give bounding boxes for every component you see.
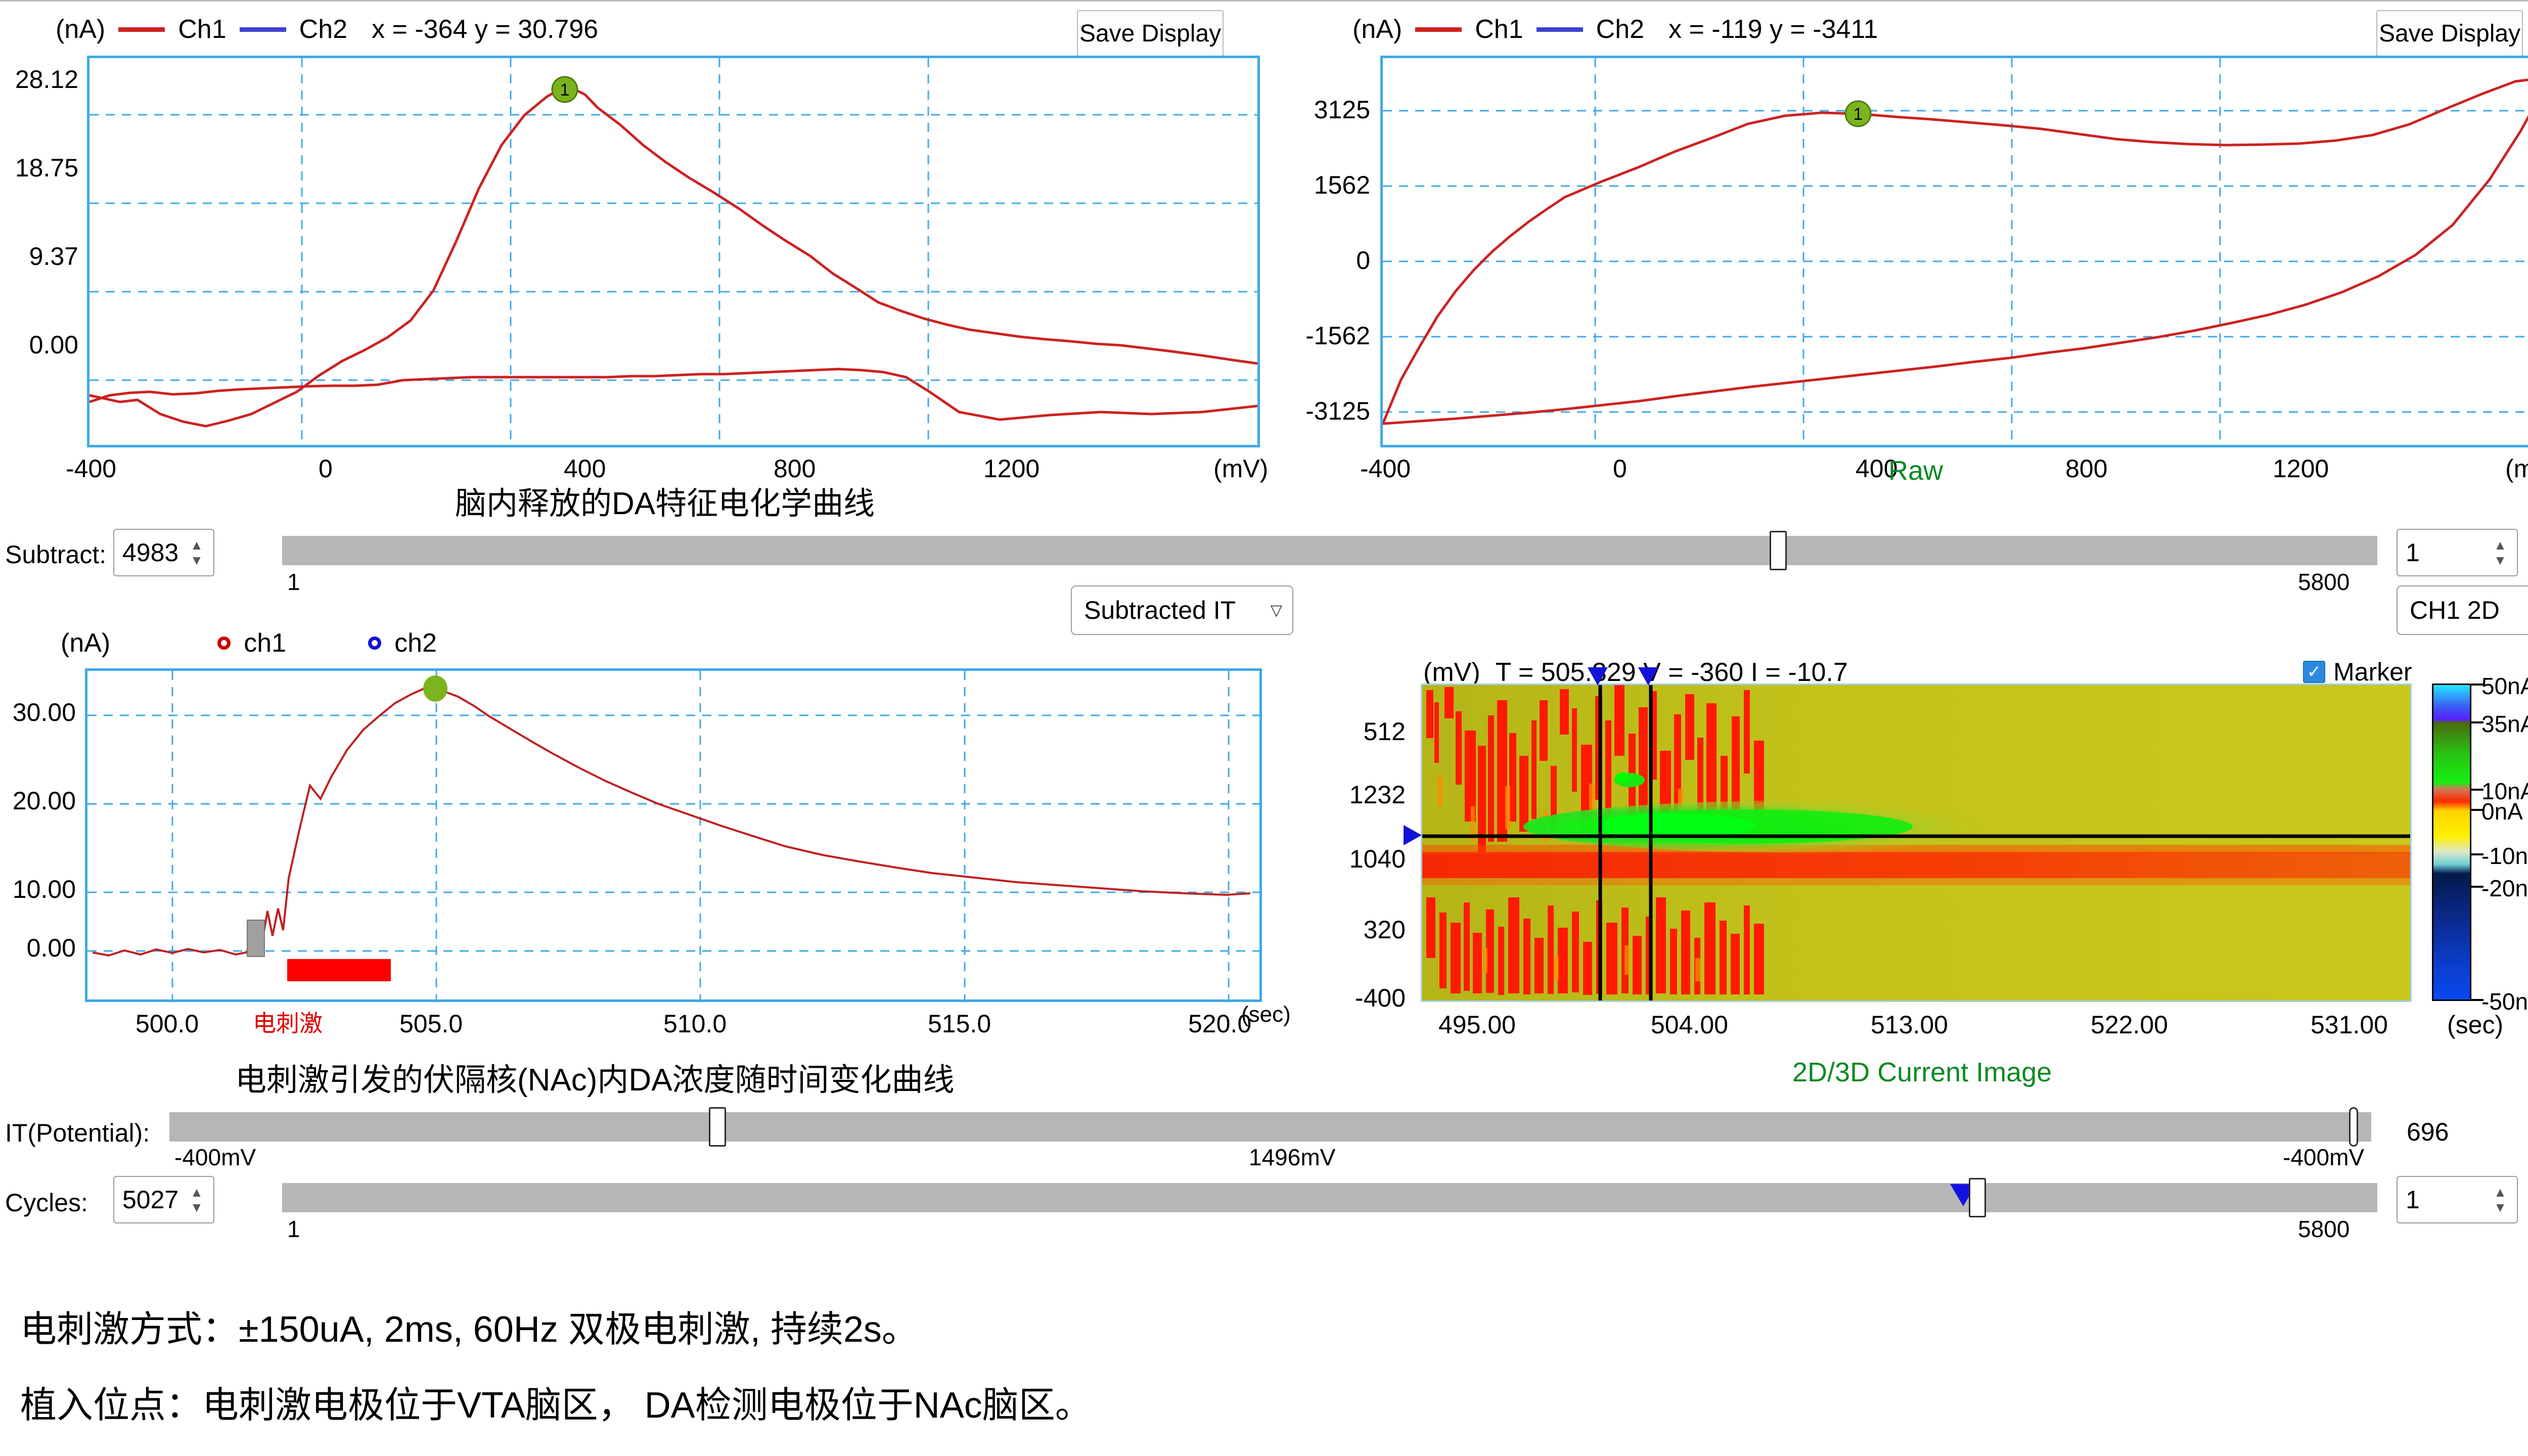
cycles-slider[interactable]	[282, 1183, 2377, 1212]
cbar-label--20nA: -20nA	[2481, 875, 2528, 902]
top-left-legend-ch2: Ch2	[299, 14, 347, 44]
bottom-left-unit-label: (nA)	[61, 628, 110, 658]
spin-down-icon-4[interactable]: ▼	[2494, 1202, 2507, 1213]
top-right-ytick-3125: 3125	[1279, 95, 1370, 124]
subtract-spinner[interactable]: 4983 ▲ ▼	[113, 529, 214, 576]
top-right-xtick-0: 0	[1613, 454, 1627, 483]
top-left-readout: x = -364 y = 30.796	[372, 14, 598, 44]
cycles-label: Cycles:	[5, 1188, 88, 1217]
cbar-label--10nA: -10nA	[2481, 842, 2528, 870]
bottom-left-xtick-510: 510.0	[663, 1009, 727, 1038]
bottom-left-plot-svg	[87, 671, 1259, 999]
heatmap-svg	[1422, 685, 2410, 1000]
stimulation-label: 电刺激	[253, 1005, 323, 1038]
top-right-legend-ch2: Ch2	[1596, 14, 1644, 44]
subtract-value[interactable]: 4983	[114, 538, 185, 567]
top-left-xtick-0: 0	[319, 454, 333, 483]
display-mode-value: Subtracted IT	[1084, 596, 1236, 625]
channel-mode-dropdown[interactable]: CH1 2D ▽	[2397, 585, 2528, 635]
bottom-left-plot[interactable]	[85, 668, 1262, 1002]
top-left-ytick-9: 9.37	[0, 242, 78, 271]
top-right-xtick--400: -400	[1360, 454, 1411, 483]
spin-down-icon[interactable]: ▼	[190, 555, 203, 566]
top-right-plot[interactable]: 1	[1380, 56, 2528, 447]
top-right-ytick-1562: 1562	[1279, 170, 1370, 200]
chevron-down-icon[interactable]: ▽	[1271, 602, 1282, 619]
top-left-ytick-0: 0.00	[0, 330, 78, 359]
cycles-spinner-arrows[interactable]: ▲ ▼	[185, 1187, 213, 1213]
heatmap-ytick-1232: 1232	[1320, 780, 1406, 809]
heatmap-ytick-1040: 1040	[1320, 844, 1406, 874]
subtract-slider-thumb[interactable]	[1770, 531, 1787, 570]
top-right-ytick-0: 0	[1279, 246, 1370, 275]
heatmap-xtick-495: 495.00	[1438, 1010, 1516, 1039]
ch2-line-swatch-icon-2	[1537, 27, 1583, 32]
top-right-readout: x = -119 y = -3411	[1668, 14, 1878, 44]
ch1-ring-swatch-icon	[217, 636, 231, 650]
cycles-value[interactable]: 5027	[114, 1185, 185, 1214]
subtract-end-spinner-arrows[interactable]: ▲ ▼	[2489, 539, 2517, 566]
top-left-caption: 脑内释放的DA特征电化学曲线	[455, 478, 875, 523]
cbar-label-50nA: 50nA	[2481, 672, 2528, 700]
bottom-left-legend-ch1: ch1	[244, 628, 286, 658]
top-left-legend-ch1: Ch1	[178, 14, 226, 44]
bottom-left-xaxis-unit: (sec)	[1241, 1002, 1291, 1027]
heatmap-readout-row: (mV) T = 505.329 V = -360 I = -10.7	[1423, 657, 1848, 688]
subtract-slider-track[interactable]	[282, 536, 2377, 565]
window-top-edge	[0, 0, 2528, 3]
top-right-xtick-1200: 1200	[2273, 454, 2329, 483]
top-left-ytick-18: 18.75	[0, 153, 78, 183]
top-right-xtick-800: 800	[2065, 454, 2107, 483]
top-left-legend: (nA) Ch1 Ch2 x = -364 y = 30.796	[56, 14, 598, 44]
save-display-button-top-right[interactable]: Save Display	[2376, 10, 2523, 57]
top-right-legend-ch1: Ch1	[1475, 14, 1523, 44]
svg-text:1: 1	[1854, 105, 1863, 124]
cycles-slider-min: 1	[287, 1215, 300, 1243]
top-left-xaxis-unit: (mV)	[1213, 454, 1268, 483]
heatmap-cursor-marker-right[interactable]	[1638, 667, 1658, 686]
it-potential-slider-thumb-end[interactable]	[2349, 1107, 2358, 1147]
heatmap-xtick-531: 531.00	[2311, 1010, 2388, 1039]
heatmap-cursor-marker-vertical[interactable]	[1404, 825, 1422, 845]
ch2-ring-swatch-icon	[368, 636, 381, 650]
svg-text:1: 1	[560, 80, 570, 100]
marker-checkbox-group[interactable]: ✓ Marker	[2303, 657, 2412, 687]
spin-up-icon-2[interactable]: ▲	[2494, 539, 2507, 551]
top-right-legend: (nA) Ch1 Ch2 x = -119 y = -3411	[1352, 14, 1878, 44]
subtract-spinner-arrows[interactable]: ▲ ▼	[185, 539, 213, 566]
cycles-end-spinner-arrows[interactable]: ▲ ▼	[2489, 1187, 2517, 1213]
bottom-left-ytick-20: 20.00	[0, 786, 76, 815]
spin-up-icon[interactable]: ▲	[190, 539, 203, 551]
it-potential-slider-track[interactable]	[169, 1112, 2371, 1142]
heatmap-image[interactable]	[1421, 684, 2412, 1002]
heatmap-unit-label: (mV)	[1423, 657, 1480, 688]
heatmap-xtick-513: 513.00	[1871, 1010, 1948, 1039]
it-potential-slider-max: -400mV	[2283, 1144, 2364, 1171]
spin-up-icon-4[interactable]: ▲	[2494, 1187, 2507, 1198]
cbar-label-35nA: 35nA	[2481, 710, 2528, 738]
cycles-slider-track[interactable]	[282, 1183, 2377, 1212]
subtract-slider[interactable]	[282, 536, 2377, 565]
subtract-end-spinner[interactable]: 1 ▲ ▼	[2397, 529, 2518, 576]
bottom-left-ytick-0: 0.00	[0, 933, 76, 963]
spin-down-icon-2[interactable]: ▼	[2494, 555, 2507, 566]
ch1-line-swatch-icon-2	[1415, 27, 1462, 32]
top-right-caption: Raw	[1888, 455, 1943, 486]
marker-checkbox-label: Marker	[2333, 657, 2412, 687]
top-right-unit-label: (nA)	[1352, 14, 1402, 44]
cycles-slider-thumb[interactable]	[1969, 1178, 1986, 1217]
note-implant-sites: 植入位点：电刺激电极位于VTA脑区， DA检测电极位于NAc脑区。	[20, 1375, 1092, 1428]
it-potential-slider-thumb[interactable]	[709, 1107, 726, 1147]
heatmap-xtick-522: 522.00	[2091, 1010, 2168, 1039]
bottom-left-legend: (nA) ch1 ch2	[61, 628, 437, 658]
cycles-spinner[interactable]: 5027 ▲ ▼	[113, 1176, 214, 1223]
bottom-left-ytick-10: 10.00	[0, 875, 76, 904]
channel-mode-value: CH1 2D	[2410, 596, 2500, 625]
top-left-ytick-28: 28.12	[0, 65, 78, 94]
cycles-end-spinner[interactable]: 1 ▲ ▼	[2397, 1176, 2518, 1223]
it-potential-slider-min: -400mV	[174, 1144, 256, 1171]
top-left-plot[interactable]: 1	[87, 56, 1260, 447]
marker-checkbox[interactable]: ✓	[2303, 661, 2325, 683]
bottom-left-xtick-500: 500.0	[136, 1009, 199, 1038]
heatmap-readout: T = 505.329 V = -360 I = -10.7	[1496, 657, 1848, 688]
display-mode-dropdown[interactable]: Subtracted IT ▽	[1071, 585, 1293, 635]
cbar-label--50nA: -50nA	[2481, 988, 2528, 1015]
top-right-ytick--1562: -1562	[1269, 321, 1370, 350]
heatmap-ytick-320: 320	[1330, 915, 1406, 944]
ch2-line-swatch-icon	[240, 27, 286, 32]
subtract-label: Subtract:	[5, 540, 106, 569]
heatmap-caption: 2D/3D Current Image	[1792, 1057, 2052, 1088]
subtract-slider-min: 1	[287, 568, 300, 596]
top-left-unit-label: (nA)	[56, 14, 105, 44]
top-right-ytick--3125: -3125	[1269, 396, 1370, 426]
top-right-plot-svg: 1	[1383, 58, 2528, 445]
ch1-line-swatch-icon	[118, 27, 165, 32]
top-left-plot-svg: 1	[89, 58, 1257, 445]
spin-down-icon-3[interactable]: ▼	[190, 1202, 203, 1213]
heatmap-xtick-504: 504.00	[1651, 1010, 1728, 1039]
subtract-slider-max: 5800	[2298, 568, 2350, 596]
heatmap-ytick--400: -400	[1320, 983, 1406, 1013]
it-potential-slider-mid: 1496mV	[1249, 1144, 1335, 1171]
spin-up-icon-3[interactable]: ▲	[190, 1187, 203, 1198]
it-potential-label: IT(Potential):	[5, 1118, 150, 1148]
bottom-left-xtick-515: 515.0	[928, 1009, 991, 1038]
bottom-left-ytick-30: 30.00	[0, 698, 76, 727]
cbar-label-0nA: 0nA	[2481, 798, 2523, 825]
cycles-slider-max: 5800	[2298, 1215, 2350, 1243]
top-left-xtick--400: -400	[66, 454, 116, 483]
it-potential-end-value: 696	[2407, 1117, 2449, 1147]
bottom-left-caption: 电刺激引发的伏隔核(NAc)内DA浓度随时间变化曲线	[235, 1054, 955, 1100]
bottom-left-legend-ch2: ch2	[394, 628, 437, 658]
note-stimulation-protocol: 电刺激方式：±150uA, 2ms, 60Hz 双极电刺激, 持续2s。	[20, 1299, 918, 1352]
heatmap-colorbar	[2432, 684, 2471, 1001]
top-left-xtick-1200: 1200	[983, 454, 1040, 483]
cycles-end-value[interactable]: 1	[2398, 1185, 2489, 1214]
bottom-left-xtick-505: 505.0	[399, 1009, 463, 1038]
heatmap-cursor-marker-left[interactable]	[1588, 667, 1608, 686]
heatmap-ytick-512: 512	[1330, 717, 1406, 746]
subtract-end-value[interactable]: 1	[2398, 538, 2489, 567]
save-display-button-top-left[interactable]: Save Display	[1077, 10, 1224, 57]
top-right-xaxis-unit: (mV)	[2505, 454, 2528, 483]
it-potential-slider[interactable]	[169, 1112, 2371, 1142]
